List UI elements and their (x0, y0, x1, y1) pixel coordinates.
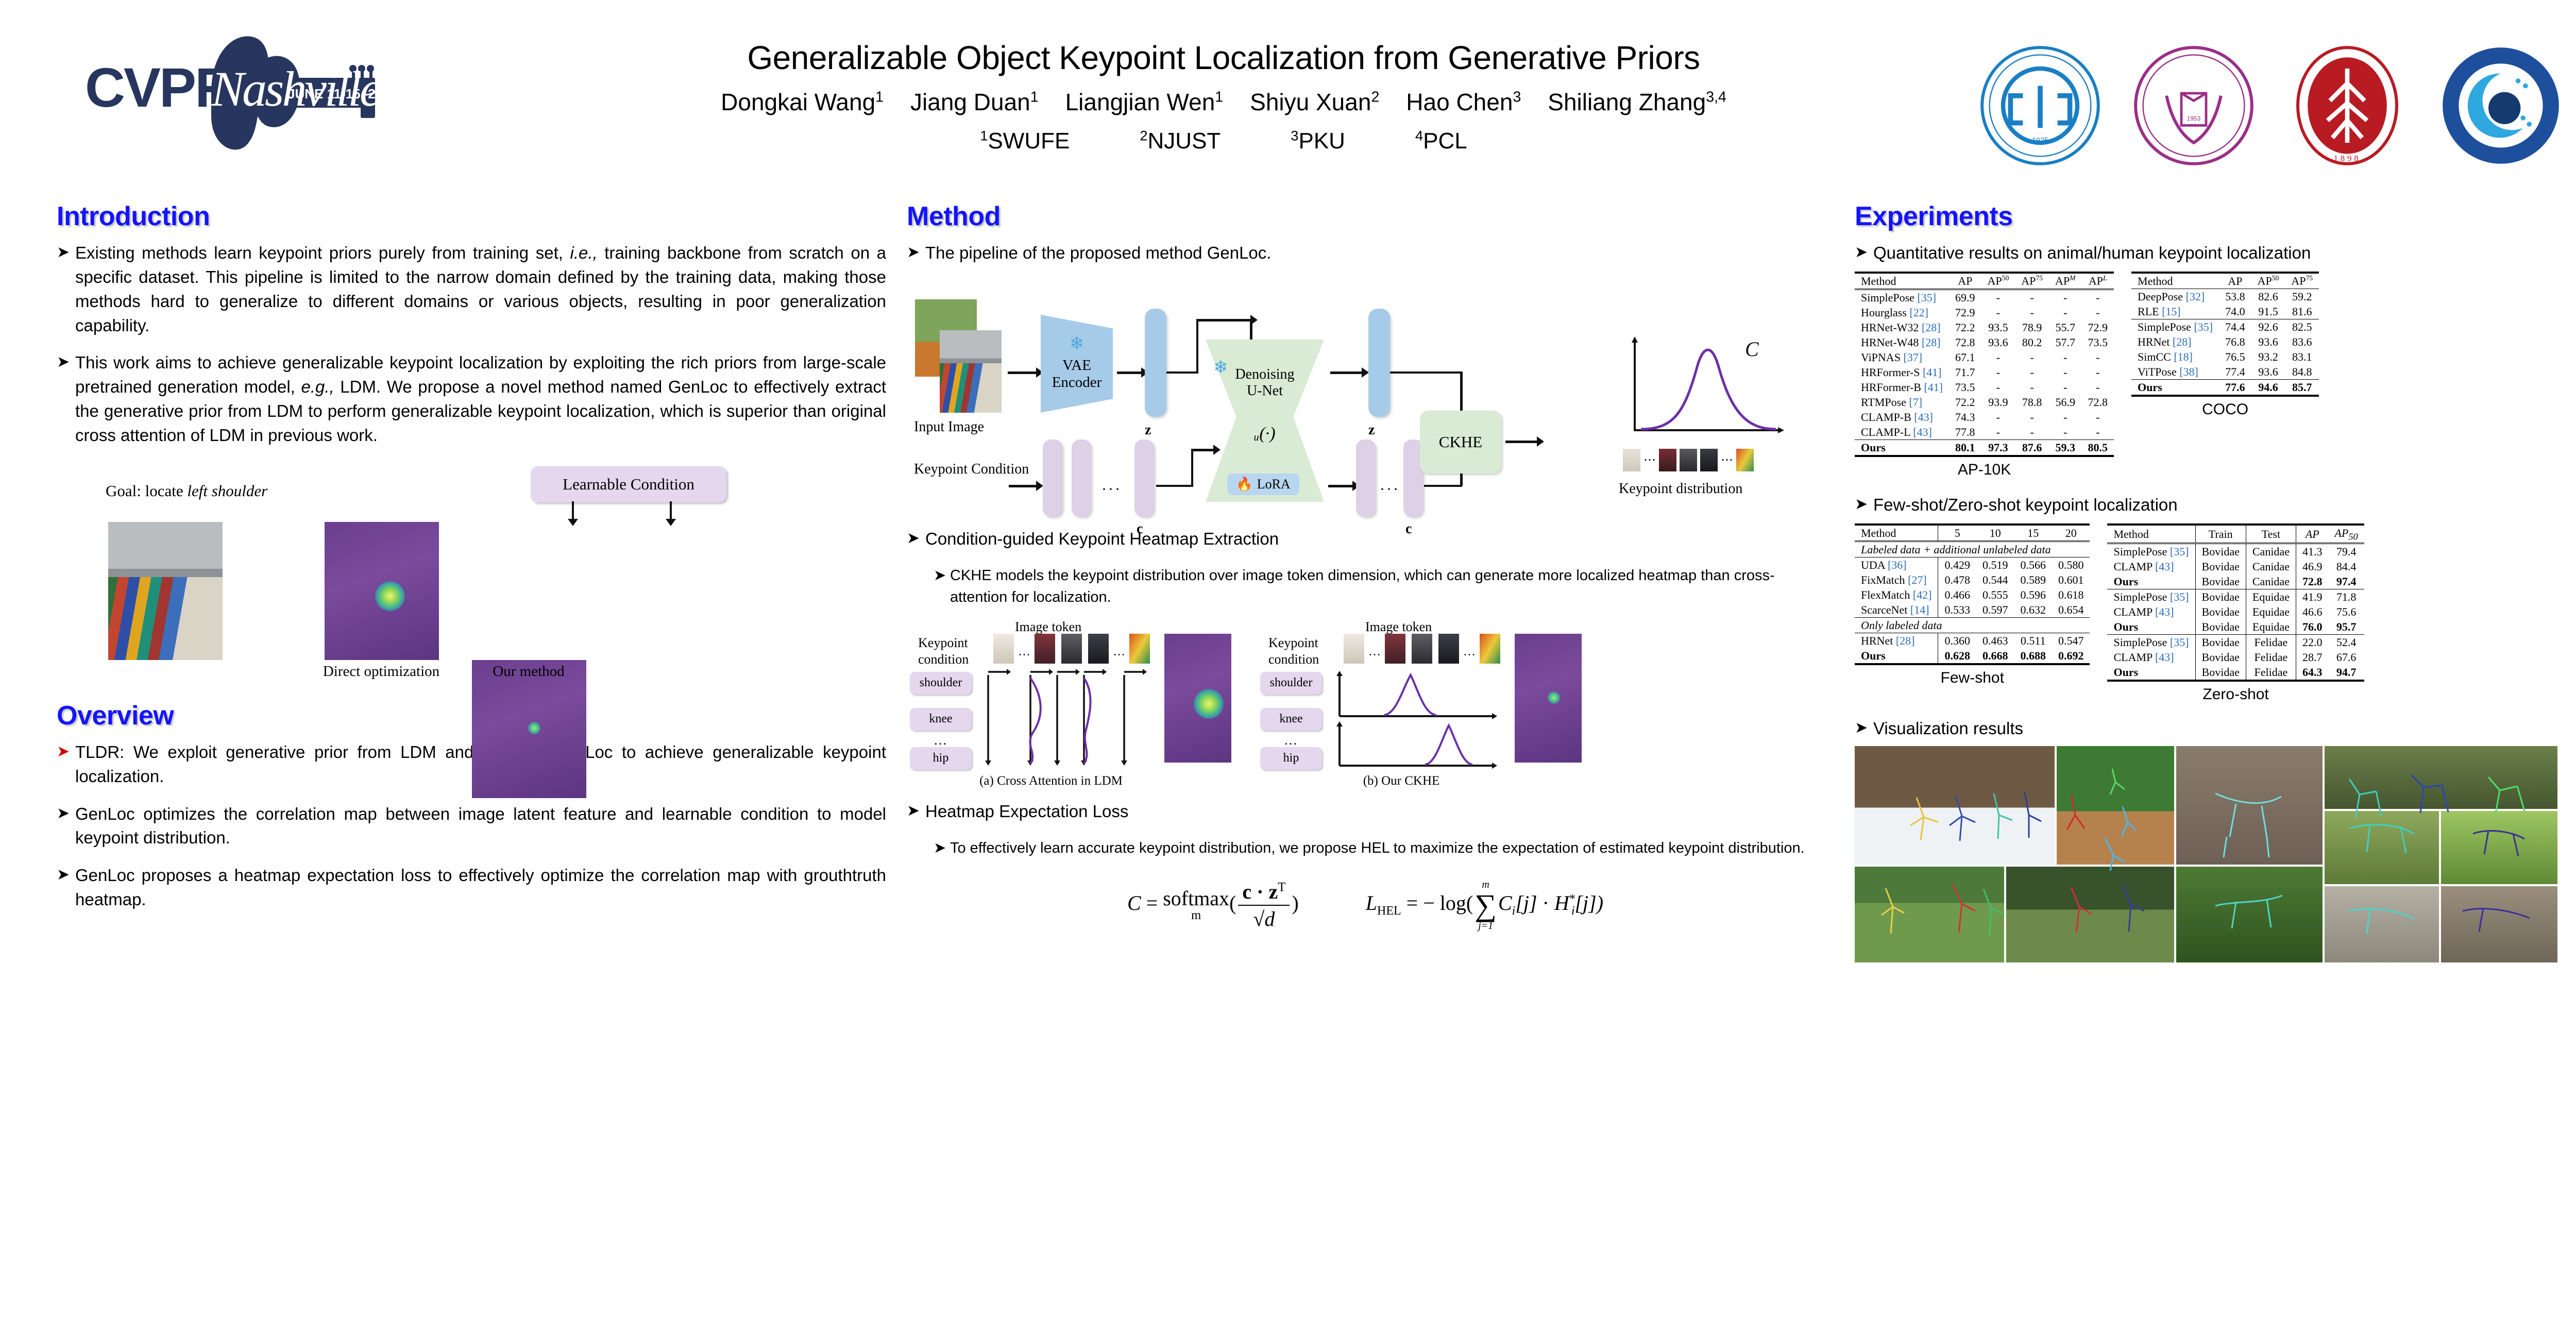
quantitative-tables: Method AP AP50 AP75 APM APL SimplePose [… (1855, 272, 2576, 479)
cell-method: HRFormer-B [41] (1855, 380, 1949, 395)
cell-value: Felidae (2246, 650, 2296, 665)
bullet-arrow-icon: ➤ (1855, 241, 1873, 265)
latent-z-label-1: z (1145, 422, 1151, 438)
cell-value: 72.9 (1949, 305, 1981, 320)
table-row: SimplePose [35]BovidaeFelidae22.052.4 (2107, 635, 2364, 650)
conference-dates: JUNE 11-15, 2025 (287, 86, 398, 102)
section-heading-method: Method (907, 201, 1824, 232)
unet-operator-symbol: ᵤ(·) (1254, 424, 1275, 444)
latent-bar-2 (1368, 309, 1390, 417)
cell-method: CLAMP-B [43] (1855, 410, 1949, 425)
table-row: DeepPose [32]53.882.659.2 (2131, 289, 2319, 305)
formula1-softmax: softmax m (1163, 888, 1229, 922)
cell-value: 0.466 (1938, 587, 1976, 602)
arrow-unet-to-latent2-icon (1330, 371, 1362, 374)
citation-ref[interactable]: [18] (2171, 350, 2193, 363)
cell-method: Ours (1855, 440, 1949, 456)
cell-value: 59.2 (2285, 289, 2319, 305)
cell-value: 67.6 (2328, 650, 2364, 665)
bullet-arrow-icon: ➤ (57, 241, 75, 337)
citation-ref[interactable]: [32] (2183, 290, 2205, 303)
ap10k-caption: AP-10K (1855, 461, 2114, 479)
table-row: SimCC [18]76.593.283.1 (2131, 349, 2319, 364)
citation-ref[interactable]: [43] (2152, 605, 2174, 618)
hel-sub-bullet: ➤ To effectively learn accurate keypoint… (934, 837, 1824, 859)
cell-value: 46.9 (2296, 559, 2328, 574)
cell-value: 78.9 (2015, 320, 2049, 335)
cell-value: 0.360 (1938, 633, 1976, 649)
cell-value: 94.7 (2328, 665, 2364, 681)
formulas-row: C = softmax m ( c · zT √d ) LHEL = − log… (907, 880, 1824, 931)
svg-text:1953: 1953 (2187, 115, 2201, 122)
cell-method: SimCC [18] (2131, 349, 2219, 364)
citation-ref[interactable]: [35] (2167, 636, 2189, 649)
cell-method: Ours (2107, 619, 2195, 635)
cell-method: Ours (2107, 574, 2195, 589)
panel-b-caption: (b) Our CKHE (1288, 774, 1515, 788)
section-heading-experiments: Experiments (1855, 201, 2576, 232)
token-ellipsis: … (1463, 645, 1476, 659)
table-row: HRFormer-B [41]73.5---- (1855, 380, 2114, 395)
affiliation: 4PCL (1415, 128, 1467, 154)
citation-ref[interactable]: [35] (2167, 545, 2189, 558)
cell-value: 0.618 (2052, 587, 2090, 602)
table-row: Ours0.6280.6680.6880.692 (1855, 648, 2090, 664)
affiliation-list: 1SWUFE2NJUST3PKU4PCL (515, 127, 1932, 154)
cell-value: - (2049, 380, 2081, 395)
bullet-arrow-icon: ➤ (934, 837, 950, 859)
vae-encoder-block: ❄ VAE Encoder (1041, 315, 1113, 413)
condition-arrow-left-icon (572, 501, 574, 520)
citation-ref[interactable]: [28] (1919, 336, 1940, 349)
panel-a-image-token-label: Image token (1015, 619, 1081, 635)
cell-value: Canidae (2246, 559, 2296, 574)
cell-value: Bovidae (2195, 544, 2246, 560)
token-tile (1659, 449, 1676, 471)
pku-logo: 1898 (2285, 44, 2409, 167)
cell-value: 87.6 (2015, 440, 2049, 456)
cell-value: 0.547 (2052, 633, 2090, 649)
ckhe-block: CKHE (1420, 411, 1501, 474)
cell-method: SimplePose [35] (2107, 635, 2195, 650)
condition-chip-shoulder: shoulder (910, 672, 972, 695)
cell-value: 73.5 (1949, 380, 1981, 395)
panel-a-keypoint-condition-label: Keypoint condition (918, 635, 969, 668)
cell-value: 0.580 (2052, 557, 2090, 573)
table-row: UDA [36]0.4290.5190.5660.580 (1855, 557, 2090, 573)
cell-value: - (2049, 410, 2081, 425)
cell-value: - (2049, 425, 2081, 440)
table-row: CLAMP [43]BovidaeCanidae46.984.4 (2107, 559, 2364, 574)
table-row: Hourglass [22]72.9---- (1855, 305, 2114, 320)
cell-value: 81.6 (2285, 304, 2319, 319)
zeroshot-table-body: SimplePose [35]BovidaeCanidae41.379.4CLA… (2107, 544, 2364, 681)
cell-value: Bovidae (2195, 665, 2246, 681)
author: Hao Chen3 (1406, 89, 1521, 115)
table-row: RTMPose [7]72.293.978.856.972.8 (1855, 395, 2114, 410)
image-token-tile (1344, 634, 1364, 664)
citation-ref[interactable]: [28] (1919, 321, 1940, 334)
cell-value: 82.5 (2285, 319, 2319, 335)
cell-value: 76.8 (2219, 334, 2251, 349)
panel-b-image-token-label: Image token (1365, 619, 1432, 635)
teaser-direct-optimization-heatmap (325, 522, 439, 660)
pcl-logo (2439, 44, 2563, 167)
arrow-ckhe-to-dist-icon (1505, 441, 1537, 443)
svg-text:1925: 1925 (2032, 137, 2048, 145)
arrow-cond-to-unet-icon (1191, 449, 1214, 451)
citation-ref[interactable]: [15] (2159, 305, 2181, 318)
institution-logos: 1925 1953 1898 (1978, 36, 2576, 175)
svg-text:1898: 1898 (2334, 154, 2361, 163)
coco-table: Method AP AP50 AP75 DeepPose [32]53.882.… (2131, 272, 2319, 397)
cell-value: 0.589 (2014, 572, 2052, 587)
cell-value: 0.688 (2014, 648, 2052, 664)
cell-method: HRNet-W48 [28] (1855, 335, 1949, 350)
experiments-vis-bullet-text: Visualization results (1873, 717, 2576, 741)
cell-value: Bovidae (2195, 589, 2246, 605)
learnable-condition-chip: Learnable Condition (531, 466, 726, 502)
table-header-row: Method Train Test AP AP50 (2107, 525, 2364, 544)
formula2-lhs: L (1366, 891, 1377, 915)
section-heading-overview: Overview (57, 700, 886, 731)
image-token-tile (1438, 634, 1459, 664)
cell-value: - (1981, 365, 2015, 380)
cell-value: - (2015, 410, 2049, 425)
bullet-arrow-icon: ➤ (934, 565, 950, 608)
citation-ref[interactable]: [43] (1911, 411, 1933, 424)
bullet-arrow-icon: ➤ (1855, 717, 1873, 741)
cell-value: - (1981, 425, 2015, 440)
citation-ref[interactable]: [35] (2167, 590, 2189, 603)
cell-method: SimplePose [35] (2107, 589, 2195, 605)
hel-sub-bullet-text: To effectively learn accurate keypoint d… (950, 837, 1805, 859)
page-title: Generalizable Object Keypoint Localizati… (515, 39, 1932, 77)
affiliation: 1SWUFE (980, 128, 1070, 154)
table-row: ScarceNet [14]0.5330.5970.6320.654 (1855, 602, 2090, 618)
cell-value: 76.5 (2219, 349, 2251, 364)
cell-value: Felidae (2246, 665, 2296, 681)
cell-method: CLAMP-L [43] (1855, 425, 1949, 440)
arrow-vae-to-latent-icon (1117, 371, 1142, 374)
table-row: ViPNAS [37]67.1---- (1855, 350, 2114, 365)
cell-method: Ours (2107, 665, 2195, 681)
cell-value: - (2015, 290, 2049, 306)
citation-ref[interactable]: [41] (1921, 381, 1943, 394)
formula1-lhs: C (1127, 891, 1141, 915)
formula-hel-loss: LHEL = − log( m ∑ j=1 Ci[j] · H*i[j]) (1366, 880, 1603, 931)
table-row: CLAMP [43]BovidaeFelidae28.767.6 (2107, 650, 2364, 665)
cell-value: - (1981, 290, 2015, 306)
cell-value: 83.6 (2285, 334, 2319, 349)
cell-value: 56.9 (2049, 395, 2081, 410)
overview-bullet-2: ➤ GenLoc optimizes the correlation map b… (57, 802, 886, 851)
citation-ref[interactable]: [7] (1906, 396, 1922, 409)
intro-bullet-1: ➤ Existing methods learn keypoint priors… (57, 241, 886, 337)
table-row: CLAMP [43]BovidaeEquidae46.675.6 (2107, 604, 2364, 619)
fewshot-table-body: Labeled data + additional unlabeled data… (1855, 542, 2090, 665)
pipeline-diagram: Input Image Keypoint Condition ❄ VAE Enc… (912, 279, 1803, 516)
arrow-unet-to-cond2-icon (1328, 485, 1353, 487)
table-row: Ours77.694.685.7 (2131, 380, 2319, 396)
panel-b-heatmap-result (1515, 634, 1582, 763)
cell-value: Bovidae (2195, 574, 2246, 589)
cell-value: 53.8 (2219, 289, 2251, 305)
cell-value: 97.3 (1981, 440, 2015, 456)
cell-method: DeepPose [32] (2131, 289, 2219, 305)
coco-caption: COCO (2131, 401, 2319, 418)
cell-value: 0.596 (2014, 587, 2052, 602)
cell-value: 0.478 (1938, 572, 1976, 587)
bullet-arrow-icon: ➤ (57, 802, 75, 851)
condition-ellipsis: ··· (1101, 481, 1122, 498)
citation-ref[interactable]: [22] (1907, 306, 1928, 319)
cell-method: SimplePose [35] (1855, 290, 1949, 306)
cell-value: 72.2 (1949, 320, 1981, 335)
cell-value: 93.6 (1981, 335, 2015, 350)
cell-method: HRNet [28] (2131, 334, 2219, 349)
citation-ref[interactable]: [43] (2152, 651, 2174, 664)
citation-ref[interactable]: [14] (1907, 603, 1929, 616)
cell-value: 41.9 (2296, 589, 2328, 605)
table-row: HRNet-W48 [28]72.893.680.257.773.5 (1855, 335, 2114, 350)
cell-value: Felidae (2246, 635, 2296, 650)
cell-value: 72.8 (1949, 335, 1981, 350)
condition-ellipsis-2: ··· (1380, 481, 1400, 498)
cell-method: UDA [36] (1855, 557, 1938, 573)
zeroshot-caption: Zero-shot (2107, 686, 2364, 703)
condition-c-label-2: c (1405, 521, 1412, 537)
cell-value: 67.1 (1949, 350, 1981, 365)
cell-value: 0.692 (2052, 648, 2090, 664)
keypoint-distribution-plot: C (1625, 334, 1785, 443)
panel-a-caption: (a) Cross Attention in LDM (938, 774, 1164, 788)
fewshot-caption: Few-shot (1855, 669, 2090, 687)
table-row: OursBovidaeCanidae72.897.4 (2107, 574, 2364, 589)
cell-value: 80.2 (2015, 335, 2049, 350)
cell-method: HRFormer-S [41] (1855, 365, 1949, 380)
fewshot-zeroshot-tables: Method 5 10 15 20 Labeled data + additio… (1855, 523, 2576, 703)
arrow-latent-to-ckhe-icon (1460, 371, 1463, 412)
cell-value: 59.3 (2049, 440, 2081, 456)
cell-value: Canidae (2246, 544, 2296, 560)
author: Shiyu Xuan2 (1250, 89, 1379, 115)
zeroshot-table: Method Train Test AP AP50 SimplePose [35… (2107, 523, 2364, 682)
cvpr-nashville-logo: CVPR Nashville JUNE 11-15, 2025 (57, 28, 428, 157)
cell-value: 69.9 (1949, 290, 1981, 306)
cell-method: CLAMP [43] (2107, 604, 2195, 619)
citation-ref[interactable]: [38] (2177, 365, 2198, 378)
cell-value: - (2082, 350, 2114, 365)
cell-method: HRNet-W32 [28] (1855, 320, 1949, 335)
table-row: SimplePose [35]BovidaeEquidae41.971.8 (2107, 589, 2364, 605)
image-token-tile (1385, 634, 1405, 664)
cell-value: 0.429 (1938, 557, 1976, 573)
method-pipeline-bullet: ➤ The pipeline of the proposed method Ge… (907, 241, 1824, 265)
ckhe-bullet: ➤ Condition-guided Keypoint Heatmap Extr… (907, 527, 1824, 551)
cell-value: 0.628 (1938, 648, 1976, 664)
image-token-tile (1061, 634, 1082, 664)
cell-value: 0.566 (2014, 557, 2052, 573)
cell-value: - (1981, 380, 2015, 395)
cell-value: 91.5 (2251, 304, 2285, 319)
table-header-row: Method AP AP50 AP75 APM APL (1855, 273, 2114, 290)
cell-value: 0.533 (1938, 602, 1976, 618)
cell-value: - (1981, 305, 2015, 320)
section-label-text: Labeled data + additional unlabeled data (1855, 542, 2090, 557)
experiments-fewshot-bullet-text: Few-shot/Zero-shot keypoint localization (1873, 493, 2576, 517)
condition-chip-hip: hip (910, 747, 972, 770)
panel-a-attention-curves (984, 668, 1159, 774)
cell-value: - (1981, 410, 2015, 425)
cell-value: 93.6 (2251, 364, 2285, 380)
cell-value: 0.654 (2052, 602, 2090, 618)
cell-method: Hourglass [22] (1855, 305, 1949, 320)
cell-value: 74.0 (2219, 304, 2251, 319)
overview-bullet-2-text: GenLoc optimizes the correlation map bet… (75, 802, 886, 851)
experiments-vis-bullet: ➤ Visualization results (1855, 717, 2576, 741)
pipeline-keypoint-condition-label: Keypoint Condition (914, 460, 1029, 478)
cell-value: 93.9 (1981, 395, 2015, 410)
citation-ref[interactable]: [43] (1910, 426, 1932, 438)
citation-ref[interactable]: [35] (1914, 291, 1936, 304)
author-list: Dongkai Wang1Jiang Duan1Liangjian Wen1Sh… (515, 88, 1932, 116)
cell-value: 97.4 (2328, 574, 2364, 589)
citation-ref[interactable]: [42] (1910, 588, 1931, 601)
section-label-text: Only labeled data (1855, 618, 2090, 633)
keypoint-skeleton-overlay (1855, 746, 2561, 962)
cell-value: 0.511 (2014, 633, 2052, 649)
cell-value: 71.7 (1949, 365, 1981, 380)
teaser-our-method-heatmap (472, 660, 586, 798)
cell-value: 84.8 (2285, 364, 2319, 380)
cell-value: 74.4 (2219, 319, 2251, 335)
correlation-symbol: C (1745, 337, 1759, 361)
column-method: Method ➤ The pipeline of the proposed me… (907, 201, 1824, 931)
teaser-goal-label: Goal: locate left shoulder (106, 482, 267, 500)
table-row: OursBovidaeEquidae76.095.7 (2107, 619, 2364, 635)
author: Dongkai Wang1 (721, 89, 884, 115)
token-ellipsis: … (1368, 645, 1381, 659)
overview-bullet-1: ➤ TLDR: We exploit generative prior from… (57, 740, 886, 789)
cell-value: Bovidae (2195, 650, 2246, 665)
formula2-summation: m ∑ j=1 (1475, 880, 1497, 931)
cell-value: 76.0 (2296, 619, 2328, 635)
citation-ref[interactable]: [43] (2152, 560, 2174, 573)
table-section-label: Only labeled data (1855, 618, 2090, 633)
panel-b-ckhe-curves (1334, 668, 1510, 774)
cell-value: 82.6 (2251, 289, 2285, 305)
flame-trainable-icon: 🔥 (1236, 477, 1252, 492)
affiliation: 2NJUST (1140, 128, 1221, 154)
cell-value: 79.4 (2328, 544, 2364, 560)
citation-ref[interactable]: [28] (1893, 634, 1914, 647)
panel-a-heatmap-result (1164, 634, 1231, 763)
table-header-row: Method AP AP50 AP75 (2131, 273, 2319, 289)
ckhe-figure-panel-b: Keypoint condition Image token … … shoul… (1257, 616, 1690, 786)
cell-value: 72.8 (2296, 574, 2328, 589)
teaser-input-photo (108, 522, 223, 660)
table-row: FlexMatch [42]0.4660.5550.5960.618 (1855, 587, 2090, 602)
token-tile (1700, 449, 1718, 471)
citation-ref[interactable]: [35] (2191, 320, 2213, 333)
citation-ref[interactable]: [28] (2170, 335, 2191, 348)
cell-value: 0.555 (1976, 587, 2014, 602)
cell-value: - (2049, 365, 2081, 380)
latent-z-label-2: z (1368, 422, 1375, 438)
bullet-arrow-icon: ➤ (57, 864, 75, 912)
snowflake-frozen-icon: ❄ (1070, 333, 1084, 354)
section-heading-introduction: Introduction (57, 201, 886, 232)
experiments-quant-bullet: ➤ Quantitative results on animal/human k… (1855, 241, 2576, 265)
cell-value: 77.8 (1949, 425, 1981, 440)
pipeline-input-photo-person (940, 330, 1002, 413)
cell-value: - (2082, 365, 2114, 380)
cell-value: 85.7 (2285, 380, 2319, 396)
citation-ref[interactable]: [27] (1905, 573, 1927, 586)
ap10k-table-wrapper: Method AP AP50 AP75 APM APL SimplePose [… (1855, 272, 2114, 479)
formula-correlation: C = softmax m ( c · zT √d ) (1127, 880, 1299, 931)
lora-block: 🔥 LoRA (1227, 474, 1299, 495)
cell-method: CLAMP [43] (2107, 559, 2195, 574)
ckhe-sub-bullet-text: CKHE models the keypoint distribution ov… (950, 565, 1824, 608)
image-token-tile (1480, 634, 1500, 664)
snowflake-frozen-icon: ❄ (1213, 357, 1228, 378)
visualization-results-grid (1855, 746, 2576, 962)
cell-value: 52.4 (2328, 635, 2364, 650)
cell-method: RLE [15] (2131, 304, 2219, 319)
cell-value: - (2082, 305, 2114, 320)
cell-value: Equidae (2246, 589, 2296, 605)
ckhe-figure: Keypoint condition Image token … … shoul… (907, 616, 1798, 786)
condition-arrow-right-icon (670, 501, 672, 520)
cell-value: 74.3 (1949, 410, 1981, 425)
table-row: HRFormer-S [41]71.7---- (1855, 365, 2114, 380)
cell-method: SimplePose [35] (2131, 319, 2219, 335)
citation-ref[interactable]: [36] (1885, 559, 1906, 571)
token-ellipsis: … (1113, 645, 1125, 659)
citation-ref[interactable]: [37] (1901, 351, 1922, 364)
cell-value: - (2082, 410, 2114, 425)
arrow-cond-in-icon (1009, 485, 1037, 487)
cell-method: Ours (2131, 380, 2219, 396)
arrow-input-to-vae-icon (1008, 371, 1037, 374)
cell-method: FixMatch [27] (1855, 572, 1938, 587)
citation-ref[interactable]: [41] (1920, 366, 1941, 379)
image-token-tile (1129, 634, 1150, 664)
keypoint-distribution-label: Keypoint distribution (1619, 481, 1742, 497)
cell-value: - (2049, 305, 2081, 320)
cell-value: Bovidae (2195, 604, 2246, 619)
fewshot-table-wrapper: Method 5 10 15 20 Labeled data + additio… (1855, 523, 2090, 687)
arrow-skip-to-unet-icon (1196, 319, 1251, 322)
condition-c-label-1: c (1137, 521, 1143, 537)
cell-value: 22.0 (2296, 635, 2328, 650)
tile-ellipsis: ⋯ (1643, 452, 1656, 467)
intro-bullet-2: ➤ This work aims to achieve generalizabl… (57, 351, 886, 447)
ckhe-bullet-text: Condition-guided Keypoint Heatmap Extrac… (925, 527, 1824, 551)
bullet-arrow-icon: ➤ (57, 740, 75, 789)
cell-value: - (2049, 290, 2081, 306)
condition-bar-4 (1356, 439, 1376, 517)
cell-value: 72.2 (1949, 395, 1981, 410)
fewshot-table: Method 5 10 15 20 Labeled data + additio… (1855, 523, 2090, 665)
cell-value: 93.6 (2251, 334, 2285, 349)
token-tile (1736, 449, 1754, 471)
cell-value: 71.8 (2328, 589, 2364, 605)
cell-value: 84.4 (2328, 559, 2364, 574)
cell-value: 0.668 (1976, 648, 2014, 664)
